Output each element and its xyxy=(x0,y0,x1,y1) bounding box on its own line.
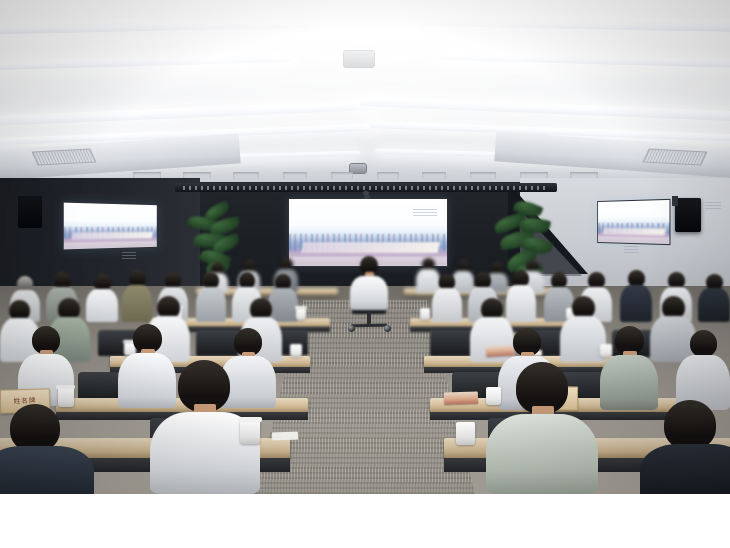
cup xyxy=(290,344,302,357)
bottom-white-margin xyxy=(0,494,730,548)
attendee xyxy=(196,272,226,322)
main-screen-river xyxy=(300,242,440,253)
attendee xyxy=(676,330,730,410)
right-wall-sign xyxy=(705,202,721,211)
attendee-center-front xyxy=(350,256,388,310)
right-wall-sign-2 xyxy=(624,246,638,253)
chair-caster xyxy=(348,325,355,332)
ceiling-slot xyxy=(283,172,307,179)
left-led-screen[interactable] xyxy=(63,202,158,251)
attendee-foreground xyxy=(640,400,730,494)
ceiling-slot xyxy=(233,172,259,179)
ceiling-slot xyxy=(331,172,353,179)
attendee xyxy=(620,270,652,322)
booklet xyxy=(444,391,478,404)
ceiling-slot xyxy=(422,172,446,179)
cup-lid xyxy=(295,306,307,309)
cup xyxy=(456,422,475,445)
ceiling-slot xyxy=(470,172,496,179)
cup-lid xyxy=(238,417,262,422)
cup xyxy=(240,420,260,444)
wall-speaker-left xyxy=(18,196,42,228)
chair-base xyxy=(351,324,387,328)
left-screen-foreground xyxy=(64,241,157,249)
attendee-foreground xyxy=(0,404,94,494)
attendee xyxy=(432,274,462,322)
cup xyxy=(296,308,306,320)
left-wall-sign xyxy=(122,252,136,259)
lighting-track-lamps xyxy=(183,186,549,190)
paper-sheet xyxy=(272,432,298,441)
main-screen-top-marker xyxy=(364,195,370,199)
screenshot-canvas: 姓名牌 姓名牌 xyxy=(0,0,730,548)
attendee xyxy=(698,274,730,322)
attendee xyxy=(600,326,658,410)
cup-lid xyxy=(56,385,75,389)
right-screen-foreground xyxy=(598,236,669,244)
main-screen-overlay-logo xyxy=(413,209,437,216)
wall-speaker-bracket-right xyxy=(672,196,678,206)
chair xyxy=(430,330,472,356)
attendee-foreground xyxy=(486,362,598,494)
right-led-screen[interactable] xyxy=(597,199,670,245)
hvac-vent xyxy=(642,148,707,165)
attendee xyxy=(86,274,118,322)
cup xyxy=(420,308,430,320)
chair-caster xyxy=(384,325,391,332)
conference-room-photo: 姓名牌 姓名牌 xyxy=(0,0,730,494)
right-screen-river xyxy=(603,228,667,236)
ceiling-slot xyxy=(377,172,399,179)
wall-speaker-right xyxy=(675,198,701,232)
